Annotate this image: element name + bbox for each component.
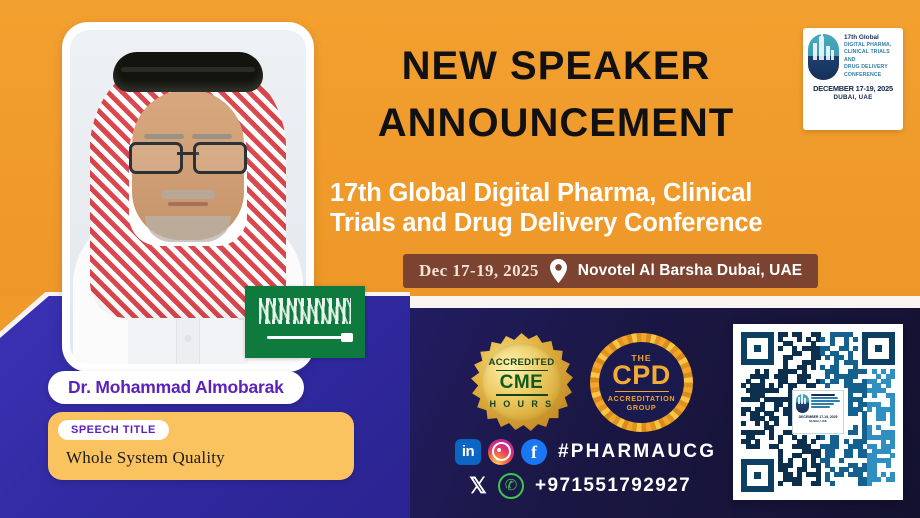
cme-divider — [496, 370, 548, 372]
saudi-arabia-flag-icon — [245, 286, 365, 358]
location-pin-icon — [549, 259, 568, 283]
conference-date: Dec 17-19, 2025 — [419, 261, 539, 281]
qr-logo-city: DUBAI, UAE — [796, 419, 840, 423]
qr-finder-top-left — [741, 332, 774, 365]
x-twitter-icon[interactable]: 𝕏 — [465, 473, 491, 499]
social-row-phone: 𝕏 ✆ +971551792927 — [455, 470, 735, 501]
headline-line-1: NEW SPEAKER — [336, 38, 776, 95]
portrait-eyebrow — [192, 134, 232, 139]
seal-inner-disc: ACCREDITED CME H O U R S — [481, 343, 562, 422]
contact-phone: +971551792927 — [535, 475, 691, 497]
glasses-lens-left — [129, 142, 183, 174]
conference-title-line-2: Trials and Drug Delivery Conference — [330, 208, 890, 238]
portrait-igal — [113, 52, 263, 92]
portrait-glasses — [129, 142, 247, 168]
cpd-accreditation-seal: THE CPD ACCREDITATION GROUP — [590, 333, 693, 432]
qr-logo-skyline-icon — [796, 394, 809, 413]
cpd-divider — [615, 391, 669, 393]
logo-line-5: CONFERENCE — [844, 72, 898, 79]
speaker-announcement-poster: NEW SPEAKER ANNOUNCEMENT 17th Global Dig… — [0, 0, 920, 518]
instagram-icon[interactable] — [488, 439, 514, 465]
conference-venue: Novotel Al Barsha Dubai, UAE — [578, 262, 802, 280]
qr-finder-top-right — [862, 332, 895, 365]
speaker-name-pill: Dr. Mohammad Almobarak — [48, 371, 304, 404]
cme-hours-label: H O U R S — [489, 399, 553, 409]
flag-sword — [267, 336, 345, 339]
cme-divider — [496, 394, 548, 396]
x-glyph: 𝕏 — [469, 475, 487, 497]
glasses-lens-right — [193, 142, 247, 174]
whatsapp-icon[interactable]: ✆ — [498, 473, 524, 499]
speech-title-badge: SPEECH TITLE — [58, 420, 169, 440]
facebook-icon[interactable]: f — [521, 439, 547, 465]
whatsapp-glyph: ✆ — [505, 478, 518, 493]
speech-title-card: SPEECH TITLE Whole System Quality — [48, 412, 354, 480]
cpd-sub-label-2: GROUP — [627, 403, 657, 412]
linkedin-glyph: in — [462, 444, 474, 459]
logo-line-3: CLINICAL TRIALS AND — [844, 49, 898, 64]
social-row-handles: in f #PHARMAUCG — [455, 436, 735, 467]
logo-city: DUBAI, UAE — [808, 94, 898, 101]
qr-center-logo: DECEMBER 17-19, 2025 DUBAI, UAE — [792, 390, 844, 434]
portrait-button — [185, 335, 192, 342]
conference-title-line-1: 17th Global Digital Pharma, Clinical — [330, 178, 890, 208]
accredited-cme-seal: ACCREDITED CME H O U R S — [470, 333, 573, 432]
portrait-eyebrow — [144, 134, 184, 139]
speech-title-text: Whole System Quality — [66, 448, 225, 468]
cme-main-label: CME — [500, 373, 544, 392]
social-handle: #PHARMAUCG — [558, 441, 716, 463]
social-contact-block: in f #PHARMAUCG 𝕏 ✆ +971551792927 — [455, 436, 735, 501]
portrait-moustache — [161, 190, 215, 199]
cpd-sub-label-1: ACCREDITATION — [608, 394, 676, 403]
speaker-name: Dr. Mohammad Almobarak — [68, 377, 284, 398]
conference-logo-card: 17th Global DIGITAL PHARMA, CLINICAL TRI… — [803, 28, 903, 130]
portrait-mouth — [168, 202, 208, 206]
logo-line-2: DIGITAL PHARMA, — [844, 42, 898, 49]
qr-logo-text-lines — [811, 394, 840, 413]
cpd-main-label: CPD — [612, 363, 671, 389]
logo-date: DECEMBER 17-19, 2025 — [808, 84, 898, 93]
page-title: NEW SPEAKER ANNOUNCEMENT — [336, 38, 776, 152]
dubai-skyline-icon — [808, 34, 839, 80]
speech-title-badge-label: SPEECH TITLE — [71, 424, 156, 436]
cme-accredited-label: ACCREDITED — [489, 357, 555, 368]
conference-title: 17th Global Digital Pharma, Clinical Tri… — [330, 178, 890, 238]
instagram-glyph — [492, 442, 511, 461]
logo-line-4: DRUG DELIVERY — [844, 64, 898, 71]
logo-line-1: 17th Global — [844, 34, 898, 42]
qr-code[interactable]: DECEMBER 17-19, 2025 DUBAI, UAE — [741, 332, 895, 492]
qr-code-card[interactable]: DECEMBER 17-19, 2025 DUBAI, UAE — [733, 324, 903, 500]
date-venue-bar: Dec 17-19, 2025 Novotel Al Barsha Dubai,… — [403, 254, 818, 288]
cpd-inner-disc: THE CPD ACCREDITATION GROUP — [599, 342, 684, 423]
qr-finder-bottom-left — [741, 459, 774, 492]
linkedin-icon[interactable]: in — [455, 439, 481, 465]
portrait-beard — [145, 216, 231, 242]
flag-shahada-script — [259, 298, 351, 324]
facebook-glyph: f — [531, 443, 537, 461]
headline-line-2: ANNOUNCEMENT — [336, 95, 776, 152]
